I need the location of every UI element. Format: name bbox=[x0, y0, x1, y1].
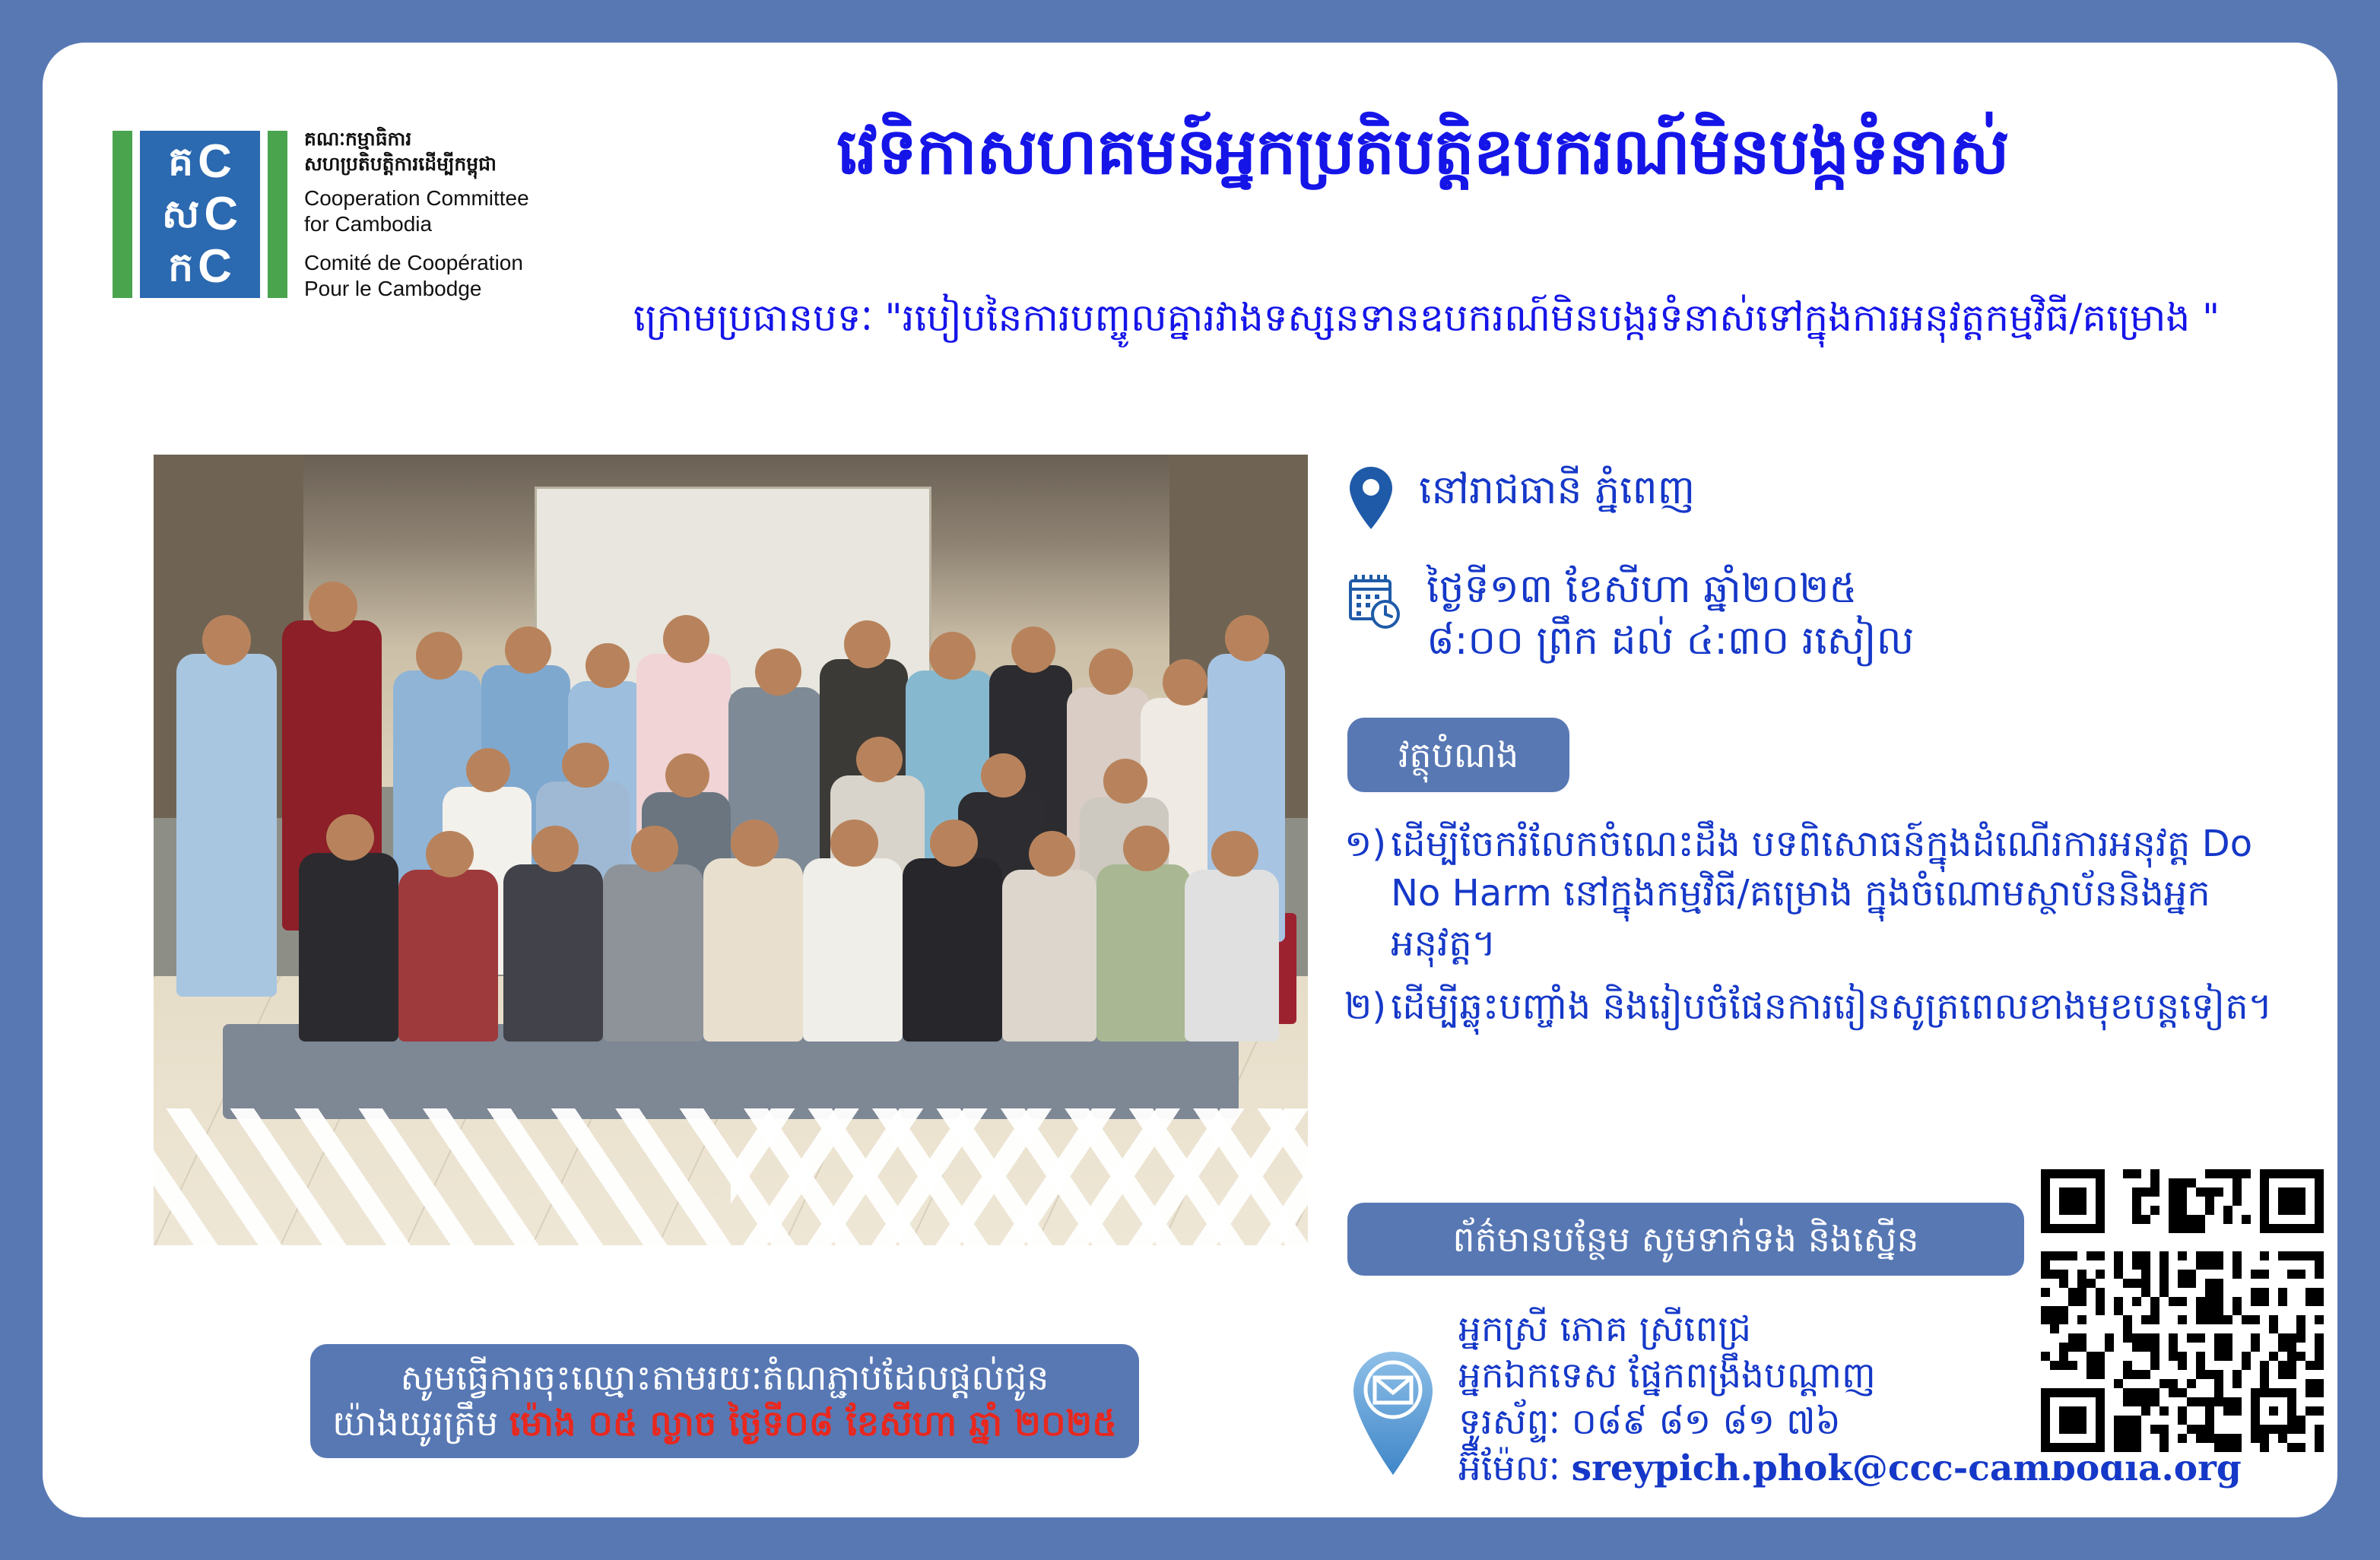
registration-line2: យ៉ាងយូរត្រឹម ម៉ោង ០៥ ល្ងាច ថ្ងៃទី០៨ ខែសី… bbox=[332, 1401, 1117, 1447]
logo-row-2: ស C bbox=[140, 195, 260, 235]
participant-head bbox=[1011, 626, 1055, 673]
objectives-pill: វត្ថុបំណង bbox=[1347, 718, 1569, 792]
time-text: ៨:០០ ព្រឹក ដល់ ៤:៣០ រសៀល bbox=[1426, 618, 1914, 664]
participant-head bbox=[1089, 648, 1133, 695]
logo-french-name-line1: Comité de Coopération bbox=[304, 251, 529, 275]
participant bbox=[398, 870, 498, 1042]
ccc-logo: គ C ស C ក C គណៈកម្មាធិការ សហប្រតិបត្តិកា… bbox=[113, 128, 529, 302]
contact-phone-label: ទូរស័ព្ទៈ bbox=[1458, 1401, 1560, 1443]
poster-title: វេទិកាសហគមន៍អ្នកប្រតិបត្តិឧបករណ៍មិនបង្កទ… bbox=[560, 116, 2286, 189]
objective-number: ២) bbox=[1344, 982, 1386, 1032]
group-photo bbox=[154, 455, 1308, 1245]
contact-phone-value: ០៨៩ ៨១ ៨១ ៧៦ bbox=[1572, 1401, 1841, 1443]
logo-row-3: ក C bbox=[140, 247, 260, 287]
participant-head bbox=[1103, 759, 1147, 803]
registration-deadline: ម៉ោង ០៥ ល្ងាច ថ្ងៃទី០៨ ខែសីហា ឆ្នាំ ២០២៥ bbox=[509, 1403, 1117, 1444]
participant-head bbox=[1225, 615, 1269, 661]
registration-qr-code[interactable] bbox=[2032, 1160, 2333, 1461]
participant-head bbox=[532, 826, 579, 872]
logo-english-name-line1: Cooperation Committee bbox=[304, 186, 529, 211]
logo-khmer-glyph-1: គ bbox=[168, 142, 193, 182]
participant-head bbox=[309, 582, 357, 632]
registration-banner: សូមធ្វើការចុះឈ្មោះតាមរយៈតំណភ្ជាប់ដែលផ្ដល… bbox=[310, 1344, 1139, 1458]
objectives-list: ១) ដើម្បីចែករំលែកចំណេះដឹង បទពិសោធន៍ក្នុង… bbox=[1344, 820, 2310, 1045]
objective-text: ដើម្បីចែករំលែកចំណេះដឹង បទពិសោធន៍ក្នុងដំណ… bbox=[1391, 820, 2310, 969]
participant bbox=[903, 858, 1002, 1041]
contact-email-label: អ៊ីម៉ែលៈ bbox=[1458, 1447, 1560, 1489]
participant-head bbox=[856, 737, 903, 782]
logo-green-bar-left bbox=[113, 131, 132, 298]
mail-pin-icon bbox=[1347, 1349, 1439, 1478]
contact-pill: ព័ត៌មានបន្ថែម សូមទាក់ទង និងស្នើន bbox=[1347, 1203, 2024, 1276]
participant-head bbox=[1211, 831, 1258, 877]
participant bbox=[1185, 870, 1279, 1042]
participant-head bbox=[466, 748, 510, 792]
participant bbox=[1096, 864, 1191, 1042]
group-photo-image bbox=[154, 455, 1308, 1245]
participant-head bbox=[585, 643, 630, 689]
logo-latin-glyph-2: C bbox=[204, 195, 238, 235]
objective-item: ១) ដើម្បីចែករំលែកចំណេះដឹង បទពិសោធន៍ក្នុង… bbox=[1344, 820, 2310, 969]
photo-participants bbox=[176, 566, 1284, 1119]
logo-khmer-glyph-2: ស bbox=[162, 195, 200, 234]
participant-head bbox=[426, 831, 474, 877]
participant-head bbox=[981, 753, 1025, 797]
participant-head bbox=[830, 820, 878, 866]
participant-head bbox=[562, 743, 608, 788]
logo-french-name-line2: Pour le Cambodge bbox=[304, 277, 529, 301]
objective-item: ២) ដើម្បីឆ្លុះបញ្ចាំង និងរៀបចំផែនការរៀនស… bbox=[1344, 982, 2310, 1032]
objective-number: ១) bbox=[1344, 820, 1386, 969]
participant-head bbox=[1123, 826, 1169, 871]
logo-khmer-glyph-3: ក bbox=[168, 248, 193, 287]
participant bbox=[603, 864, 703, 1042]
logo-english-name-line2: for Cambodia bbox=[304, 212, 529, 236]
objective-text: ដើម្បីឆ្លុះបញ្ចាំង និងរៀបចំផែនការរៀនសូត្… bbox=[1391, 982, 2310, 1032]
date-text: ថ្ងៃទី១៣ ខែសីហា ឆ្នាំ២០២៥ bbox=[1426, 566, 1857, 612]
location-row: នៅរាជធានី ភ្នំពេញ bbox=[1347, 465, 1695, 531]
participant-head bbox=[929, 632, 976, 680]
participant-head bbox=[930, 820, 978, 866]
participant-head bbox=[416, 632, 462, 680]
registration-line2-prefix: យ៉ាងយូរត្រឹម bbox=[332, 1403, 509, 1444]
logo-latin-glyph-1: C bbox=[198, 142, 232, 182]
participant-head bbox=[731, 820, 779, 866]
logo-blue-box: គ C ស C ក C bbox=[140, 131, 260, 298]
participant-head bbox=[505, 626, 551, 674]
poster-subtitle: ក្រោមប្រធានបទៈ "របៀបនៃការបញ្ចូលគ្នារវាងទ… bbox=[567, 293, 2286, 342]
ccc-logo-mark: គ C ស C ក C bbox=[113, 131, 287, 298]
logo-khmer-name-line2: សហប្រតិបត្តិការដើម្បីកម្ពុជា bbox=[304, 153, 529, 176]
poster-card: គ C ស C ក C គណៈកម្មាធិការ សហប្រតិបត្តិកា… bbox=[43, 43, 2337, 1517]
participant bbox=[176, 654, 276, 997]
calendar-clock-icon bbox=[1347, 572, 1402, 631]
qr-code-svg bbox=[2032, 1160, 2333, 1461]
logo-green-bar-right bbox=[268, 131, 287, 298]
participant bbox=[1002, 870, 1096, 1042]
participant bbox=[299, 853, 398, 1042]
participant bbox=[503, 864, 603, 1042]
participant-head bbox=[326, 814, 374, 861]
participant-head bbox=[202, 615, 251, 665]
location-text: នៅរាជធានី ភ្នំពេញ bbox=[1419, 465, 1695, 517]
date-row: ថ្ងៃទី១៣ ខែសីហា ឆ្នាំ២០២៥៨:០០ ព្រឹក ដល់ … bbox=[1347, 564, 1914, 667]
participant-head bbox=[1163, 659, 1207, 705]
map-pin-icon bbox=[1347, 465, 1395, 531]
participant-head bbox=[663, 615, 709, 663]
participant bbox=[703, 858, 803, 1041]
logo-wordmark: គណៈកម្មាធិការ សហប្រតិបត្តិការដើម្បីកម្ពុ… bbox=[304, 128, 529, 302]
logo-khmer-name-line1: គណៈកម្មាធិការ bbox=[304, 128, 529, 151]
registration-line1: សូមធ្វើការចុះឈ្មោះតាមរយៈតំណភ្ជាប់ដែលផ្ដល… bbox=[401, 1355, 1049, 1401]
date-time-text: ថ្ងៃទី១៣ ខែសីហា ឆ្នាំ២០២៥៨:០០ ព្រឹក ដល់ … bbox=[1426, 564, 1914, 667]
participant-head bbox=[631, 826, 679, 872]
logo-latin-glyph-3: C bbox=[198, 247, 232, 287]
participant bbox=[803, 858, 903, 1041]
logo-row-1: គ C bbox=[140, 142, 260, 182]
participant-head bbox=[844, 620, 890, 668]
